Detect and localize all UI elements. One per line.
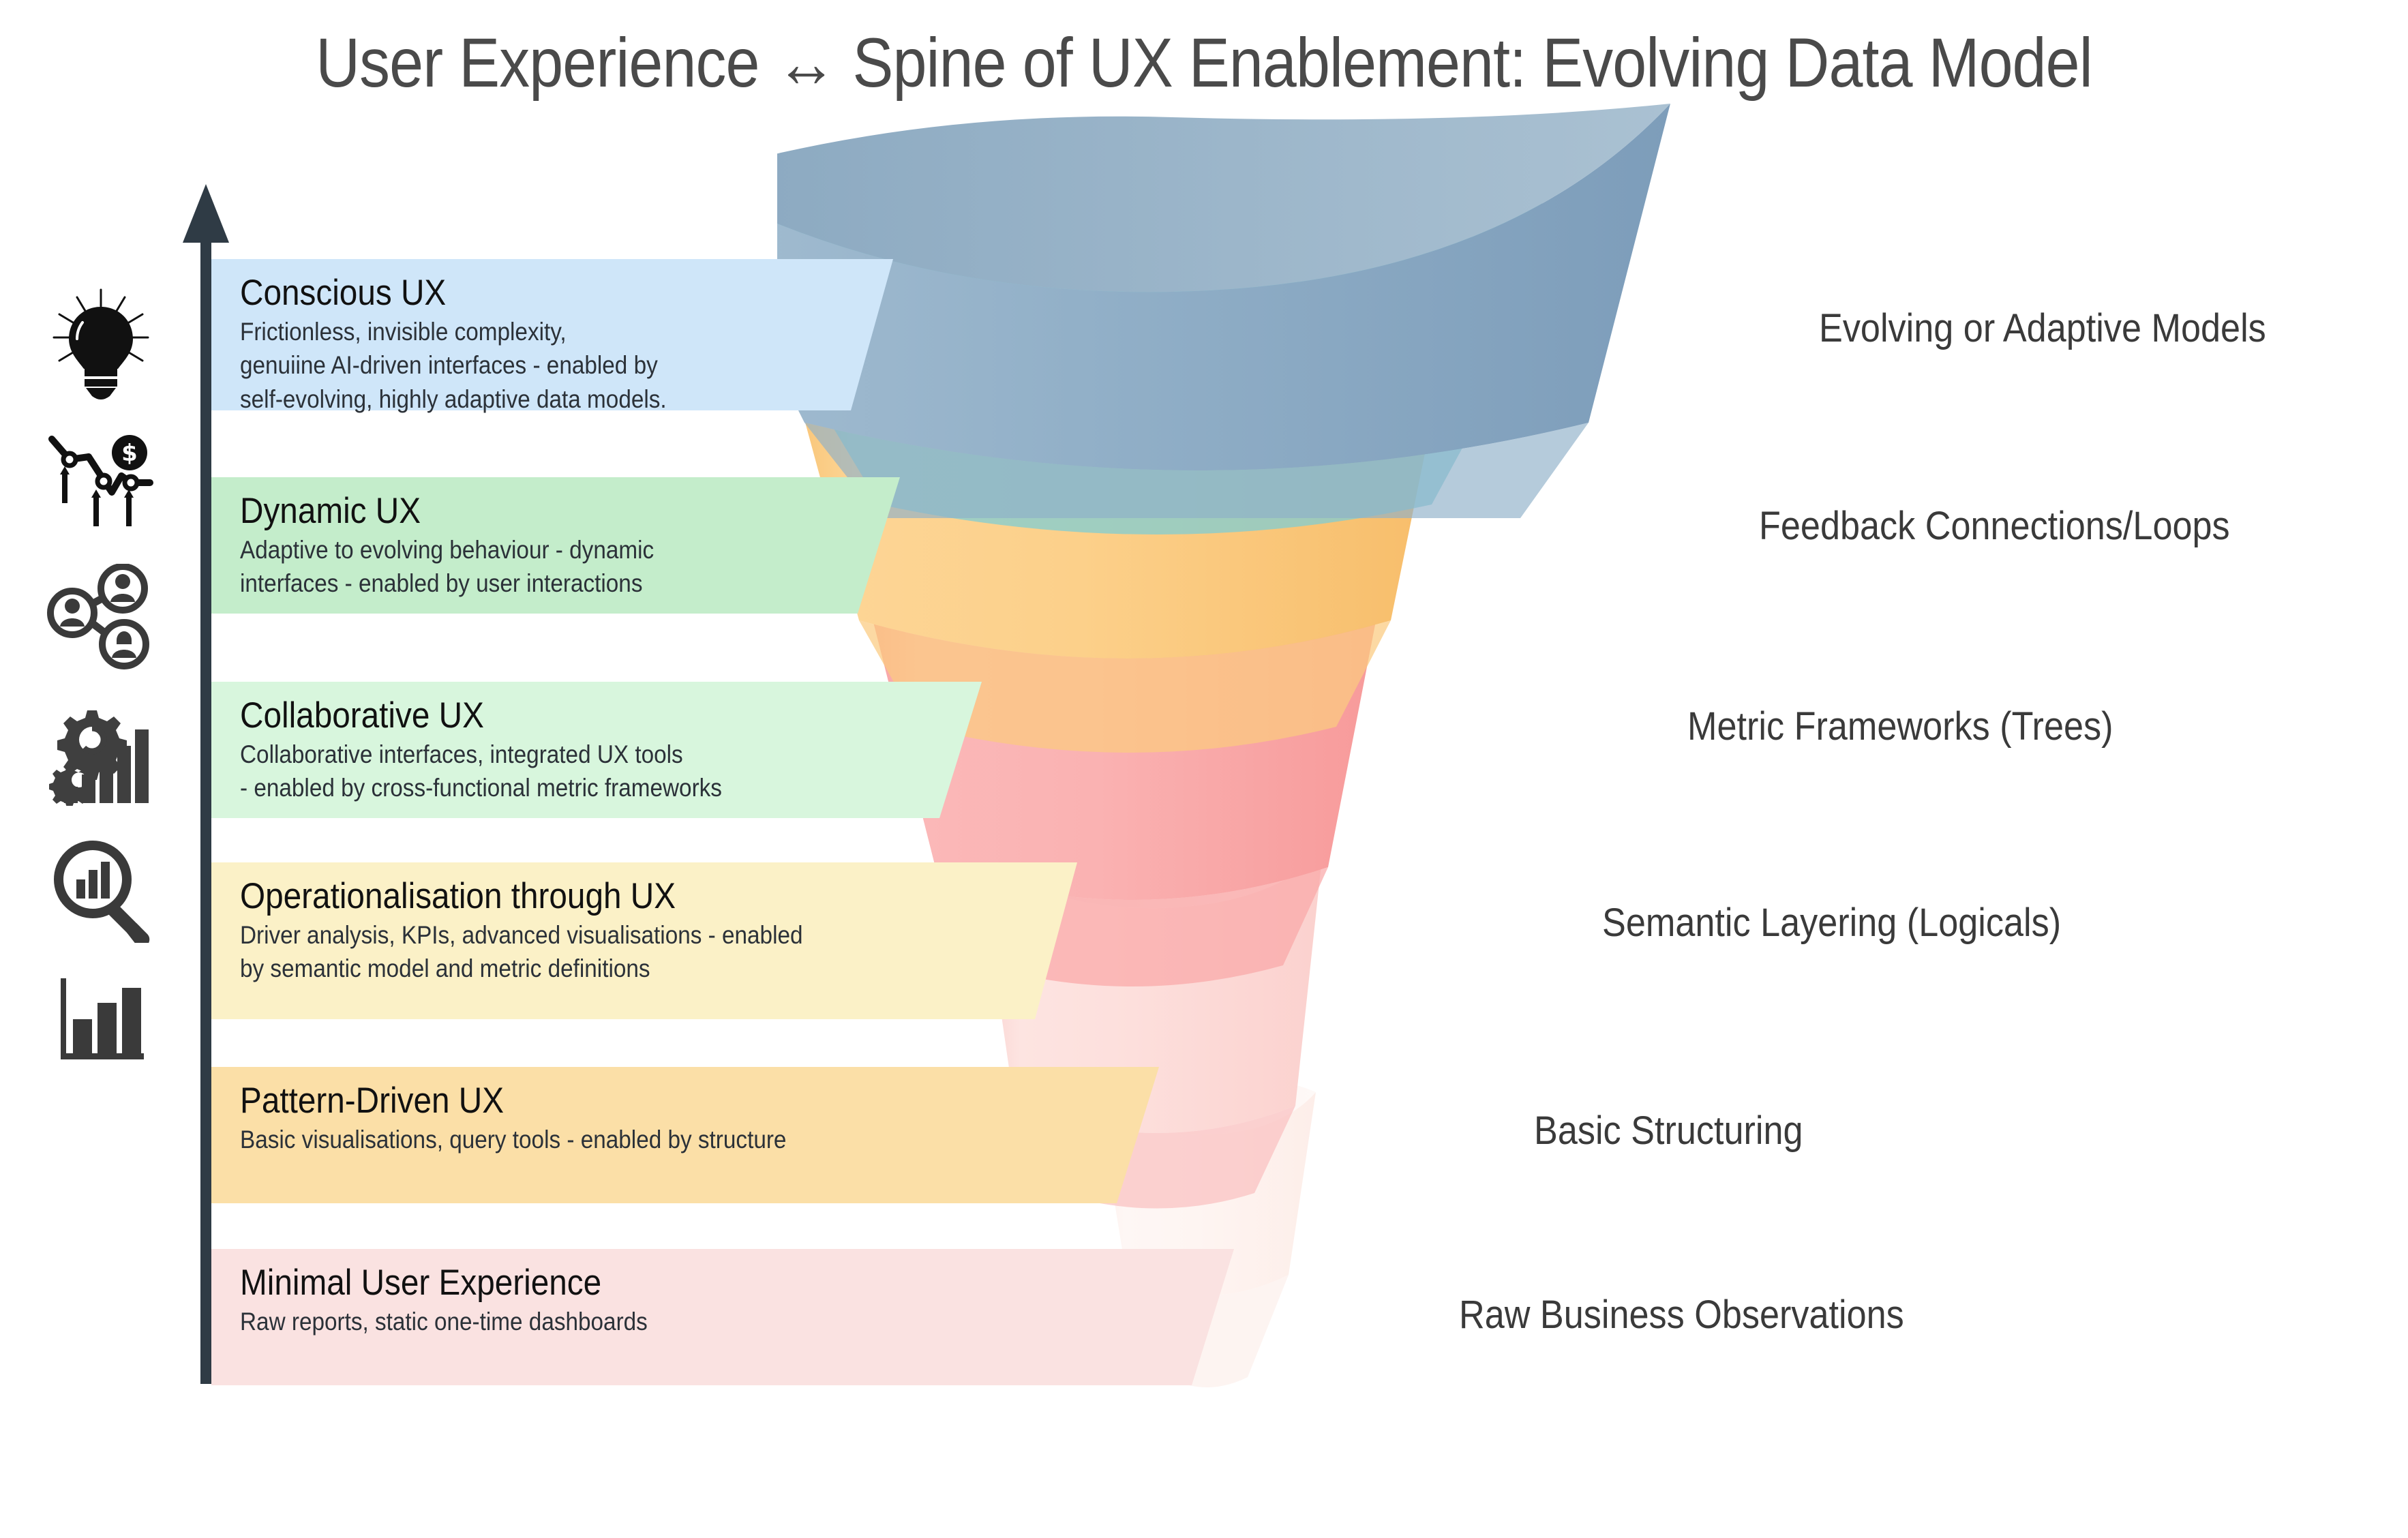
lightbulb-icon bbox=[27, 280, 174, 409]
stage-description: Frictionless, invisible complexity, genu… bbox=[240, 315, 828, 416]
people-network-icon bbox=[27, 554, 174, 683]
stage-title: Pattern-Driven UX bbox=[240, 1082, 1067, 1120]
stage-title: Dynamic UX bbox=[240, 492, 834, 530]
trend-chart-dollar-icon: $ bbox=[27, 416, 174, 545]
right-label-metric-frameworks: Metric Frameworks (Trees) bbox=[1687, 704, 2113, 749]
stage-title: Collaborative UX bbox=[240, 697, 907, 735]
right-label-feedback-connections: Feedback Connections/Loops bbox=[1759, 503, 2230, 549]
right-label-evolving-adaptive-models: Evolving or Adaptive Models bbox=[1819, 305, 2266, 351]
funnel-segment-evolving-adaptive-models bbox=[777, 0, 1841, 518]
stage-title: Minimal User Experience bbox=[240, 1264, 1134, 1302]
stage-band-operationalisation-through-ux[interactable]: Operationalisation through UX Driver ana… bbox=[211, 862, 1077, 1019]
stage-description: Driver analysis, KPIs, advanced visualis… bbox=[240, 918, 993, 985]
right-label-raw-business-observations: Raw Business Observations bbox=[1459, 1292, 1904, 1338]
stage-band-dynamic-ux[interactable]: Dynamic UX Adaptive to evolving behaviou… bbox=[211, 477, 900, 614]
stage-description: Basic visualisations, query tools - enab… bbox=[240, 1123, 1067, 1156]
svg-text:$: $ bbox=[121, 440, 138, 467]
stage-description: Adaptive to evolving behaviour - dynamic… bbox=[240, 533, 834, 600]
stage-title: Conscious UX bbox=[240, 274, 828, 312]
stage-band-conscious-ux[interactable]: Conscious UX Frictionless, invisible com… bbox=[211, 259, 893, 410]
right-label-semantic-layering: Semantic Layering (Logicals) bbox=[1602, 900, 2061, 946]
stage-band-collaborative-ux[interactable]: Collaborative UX Collaborative interface… bbox=[211, 682, 982, 818]
stage-description: Raw reports, static one-time dashboards bbox=[240, 1305, 1134, 1338]
magnifier-bar-chart-icon bbox=[27, 825, 174, 954]
gears-bar-chart-icon bbox=[27, 690, 174, 819]
right-label-basic-structuring: Basic Structuring bbox=[1534, 1108, 1803, 1153]
stage-description: Collaborative interfaces, integrated UX … bbox=[240, 738, 907, 804]
stage-band-pattern-driven-ux[interactable]: Pattern-Driven UX Basic visualisations, … bbox=[211, 1067, 1159, 1203]
stage-band-minimal-user-experience[interactable]: Minimal User Experience Raw reports, sta… bbox=[211, 1249, 1234, 1385]
stage-title: Operationalisation through UX bbox=[240, 877, 993, 916]
bar-chart-icon bbox=[27, 956, 174, 1085]
